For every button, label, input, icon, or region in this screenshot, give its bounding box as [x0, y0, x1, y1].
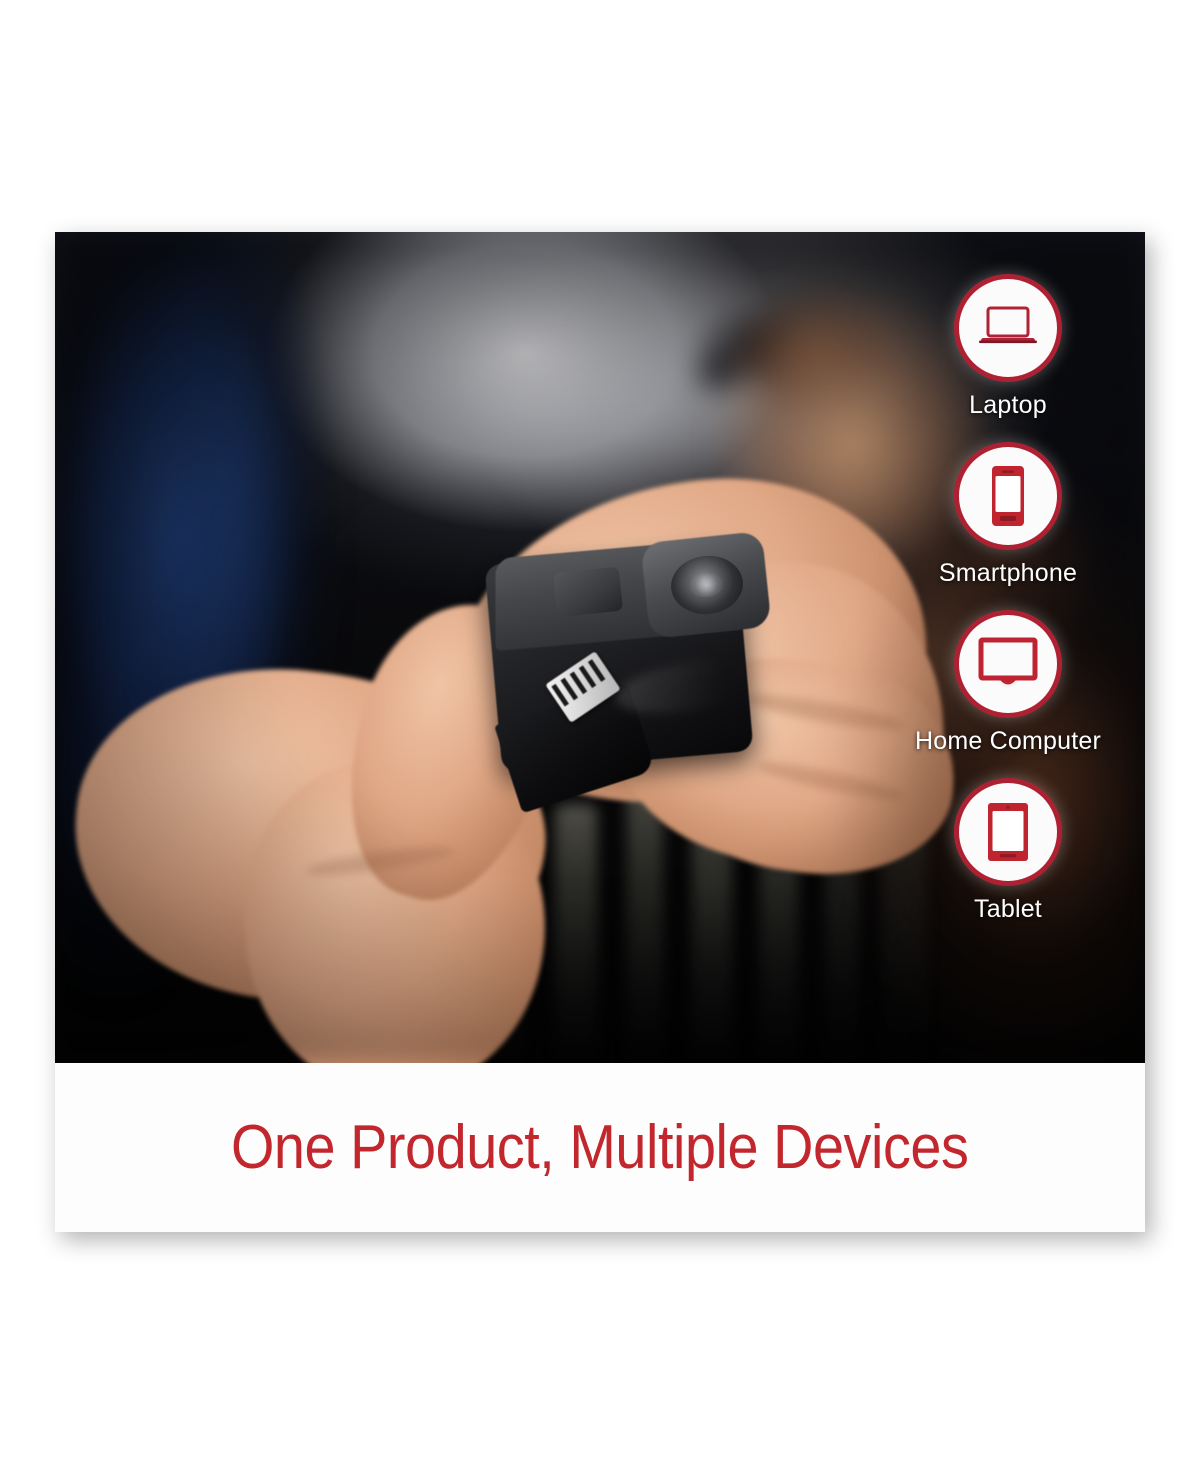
laptop-badge — [954, 274, 1062, 382]
headline-text: One Product, Multiple Devices — [231, 1112, 968, 1183]
marketing-image: Laptop Smartphone — [0, 0, 1200, 1466]
tablet-badge — [954, 778, 1062, 886]
home-computer-badge — [954, 610, 1062, 718]
smartphone-label: Smartphone — [883, 559, 1133, 588]
product-image-card: Laptop Smartphone — [55, 232, 1145, 1232]
device-item-laptop: Laptop — [883, 274, 1133, 420]
device-list: Laptop Smartphone — [883, 274, 1133, 946]
camera-status-screen — [553, 567, 623, 618]
caption-band: One Product, Multiple Devices — [55, 1063, 1145, 1232]
smartphone-badge — [954, 442, 1062, 550]
laptop-icon — [977, 302, 1039, 354]
home-computer-label: Home Computer — [883, 727, 1133, 756]
laptop-label: Laptop — [883, 391, 1133, 420]
tablet-icon — [983, 801, 1033, 863]
tablet-label: Tablet — [883, 895, 1133, 924]
device-item-home-computer: Home Computer — [883, 610, 1133, 756]
device-item-smartphone: Smartphone — [883, 442, 1133, 588]
device-item-tablet: Tablet — [883, 778, 1133, 924]
smartphone-icon — [986, 464, 1030, 528]
product-photo: Laptop Smartphone — [55, 232, 1145, 1063]
desktop-monitor-icon — [975, 636, 1041, 692]
